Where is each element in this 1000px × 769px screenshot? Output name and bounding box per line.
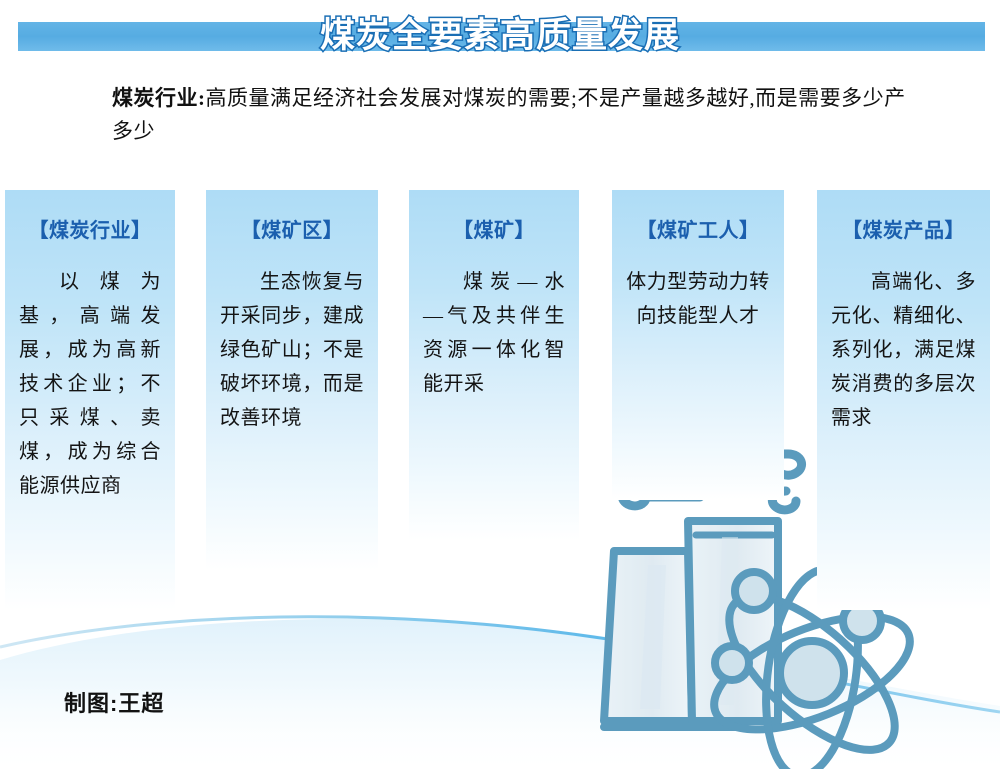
card-coal-mine[interactable]: 【煤矿】 煤炭—水—气及共伴生资源一体化智能开采	[409, 190, 579, 540]
subtitle: 煤炭行业:高质量满足经济社会发展对煤炭的需要;不是产量越多越好,而是需要多少产多…	[112, 82, 912, 148]
page-title: 煤炭全要素高质量发展	[0, 8, 1000, 64]
card-mining-area[interactable]: 【煤矿区】 生态恢复与开采同步，建成绿色矿山；不是破坏环境，而是改善环境	[206, 190, 378, 570]
cooling-tower-icon	[604, 521, 778, 727]
card-coal-miners[interactable]: 【煤矿工人】 体力型劳动力转向技能型人才	[612, 190, 784, 500]
card-body: 体力型劳动力转向技能型人才	[612, 265, 784, 333]
card-coal-industry[interactable]: 【煤炭行业】 以煤为基，高端发展，成为高新技术企业；不只采煤、卖煤，成为综合能源…	[5, 190, 175, 610]
card-title: 【煤矿区】	[206, 190, 378, 243]
card-title: 【煤炭行业】	[5, 190, 175, 243]
header: 煤炭全要素高质量发展	[0, 8, 1000, 68]
card-title: 【煤矿工人】	[612, 190, 784, 243]
subtitle-lead: 煤炭行业:	[112, 86, 206, 110]
card-body: 生态恢复与开采同步，建成绿色矿山；不是破坏环境，而是改善环境	[206, 265, 378, 435]
card-body: 煤炭—水—气及共伴生资源一体化智能开采	[409, 265, 579, 401]
card-body: 高端化、多元化、精细化、系列化，满足煤炭消费的多层次需求	[817, 265, 990, 435]
credit-line: 制图:王超	[64, 686, 164, 718]
infographic-canvas: 煤炭全要素高质量发展 煤炭行业:高质量满足经济社会发展对煤炭的需要;不是产量越多…	[0, 0, 1000, 769]
subtitle-text: 高质量满足经济社会发展对煤炭的需要;不是产量越多越好,而是需要多少产多少	[112, 86, 906, 143]
card-title: 【煤矿】	[409, 190, 579, 243]
card-coal-products[interactable]: 【煤炭产品】 高端化、多元化、精细化、系列化，满足煤炭消费的多层次需求	[817, 190, 990, 610]
card-body: 以煤为基，高端发展，成为高新技术企业；不只采煤、卖煤，成为综合能源供应商	[5, 265, 175, 503]
card-title: 【煤炭产品】	[817, 190, 990, 243]
